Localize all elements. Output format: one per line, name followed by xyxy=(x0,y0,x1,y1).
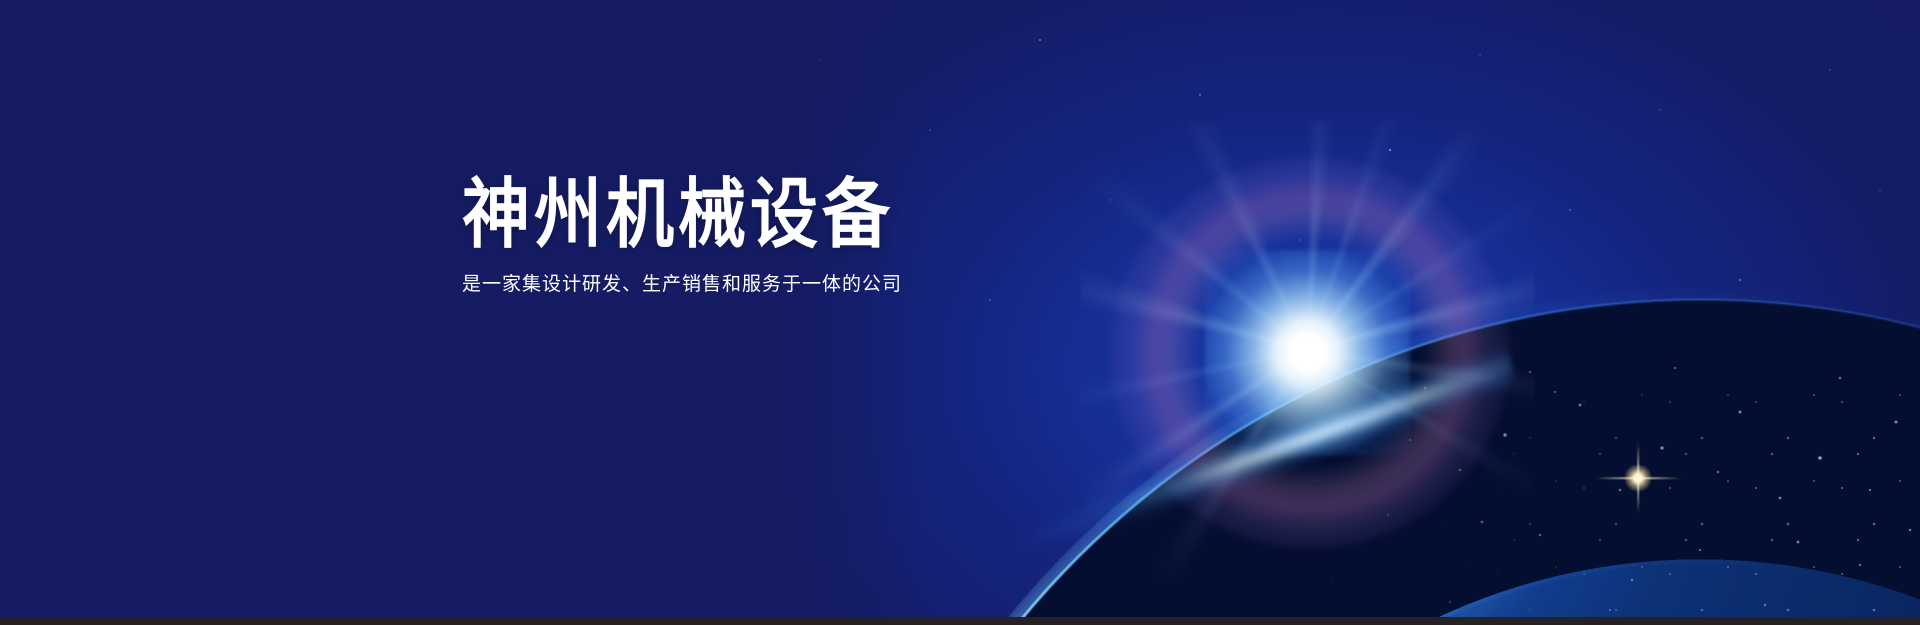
bottom-divider xyxy=(0,617,1920,625)
hero-text-block: 神州机械设备 是一家集设计研发、生产销售和服务于一体的公司 xyxy=(462,178,902,297)
page-subtitle: 是一家集设计研发、生产销售和服务于一体的公司 xyxy=(462,272,902,297)
page-title: 神州机械设备 xyxy=(462,178,902,254)
bright-city-flare xyxy=(1625,465,1651,491)
left-color-field xyxy=(0,0,760,625)
hero-banner: 神州机械设备 是一家集设计研发、生产销售和服务于一体的公司 xyxy=(0,0,1920,625)
sun-core xyxy=(1205,250,1410,455)
